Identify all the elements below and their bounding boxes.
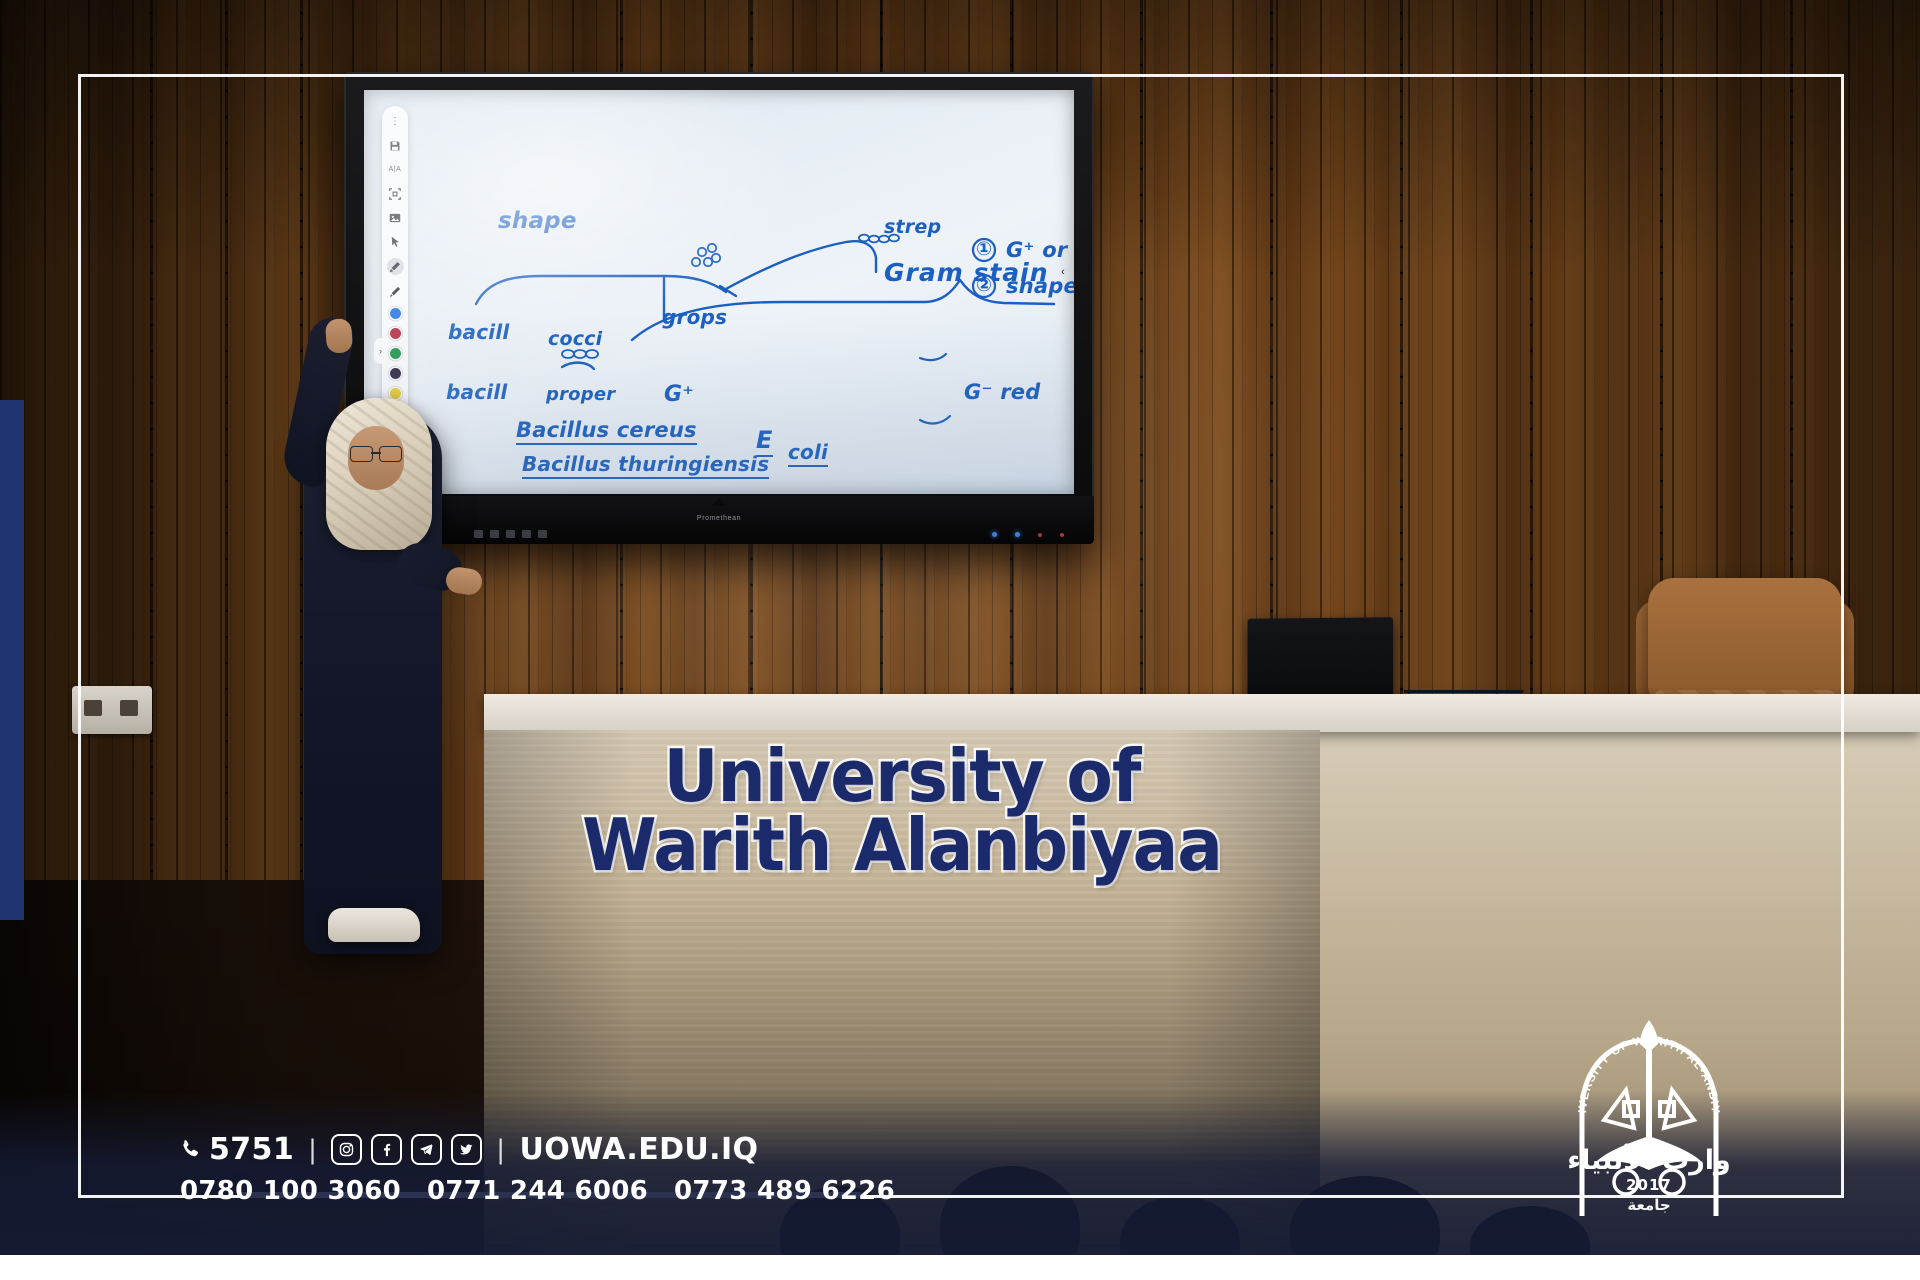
- ink-g-minus-red: G⁻ red: [964, 380, 1040, 404]
- logo-arabic-name: وارث الأنبياء: [1556, 1145, 1742, 1176]
- hotline-number: 5751: [209, 1132, 294, 1167]
- ink-shape: shape: [498, 208, 577, 234]
- bottom-white-strip: [0, 1255, 1920, 1280]
- ink-bacillus-thuringiensis: Bacillus thuringiensis: [522, 452, 769, 479]
- footer-separator-1: |: [308, 1135, 317, 1165]
- ink-cocci: cocci: [548, 328, 602, 350]
- phone-number-1[interactable]: 0780 100 3060: [180, 1176, 401, 1206]
- insert-image-icon[interactable]: [388, 210, 403, 225]
- desk-surface: [484, 694, 1920, 732]
- phone-number-2[interactable]: 0771 244 6006: [427, 1176, 648, 1206]
- sensor-notch: [712, 498, 726, 506]
- logo-arabic-sub: جامعة: [1556, 1196, 1742, 1214]
- university-logo: UNIVERSITY OF WARITH AL-ANBIYAA وارث الأ…: [1556, 1016, 1742, 1224]
- display-brand-label: Promethean: [697, 515, 741, 522]
- cursor-icon[interactable]: [388, 234, 403, 249]
- footer-separator-2: |: [496, 1135, 505, 1165]
- contact-footer: 5751 | | UOWA.EDU.IQ 0780 100: [180, 1132, 1380, 1206]
- ink-strep: strep: [884, 216, 941, 238]
- power-socket: [72, 686, 152, 734]
- ink-list-1-number: ①: [976, 238, 992, 260]
- website-link[interactable]: UOWA.EDU.IQ: [519, 1132, 758, 1167]
- select-area-icon[interactable]: [388, 186, 403, 201]
- brand-accent-bar: [0, 400, 24, 920]
- twitter-icon[interactable]: [451, 1134, 482, 1165]
- footer-primary-row: 5751 | | UOWA.EDU.IQ: [180, 1132, 1380, 1167]
- venue-sign: University of Warith Alanbiyaa: [484, 742, 1320, 880]
- presenter: [286, 296, 496, 956]
- instagram-icon[interactable]: [331, 1134, 362, 1165]
- ink-g-plus: G⁺: [664, 382, 694, 407]
- more-options-icon[interactable]: ⋮: [388, 114, 403, 129]
- telegram-icon[interactable]: [411, 1134, 442, 1165]
- pen-icon[interactable]: [387, 258, 404, 275]
- footer-phone-row: 0780 100 3060 0771 244 6006 0773 489 622…: [180, 1176, 1380, 1206]
- photo-card: shape bacill cocci bacill proper grops s…: [0, 0, 1920, 1280]
- ink-bacillus-cereus: Bacillus cereus: [516, 418, 697, 445]
- hotline[interactable]: 5751: [180, 1132, 294, 1167]
- facebook-icon[interactable]: [371, 1134, 402, 1165]
- ink-groups: grops: [662, 305, 727, 329]
- ink-proper: proper: [546, 384, 615, 405]
- presenter-gesturing-hand: [444, 566, 483, 597]
- laptop: [1248, 617, 1393, 701]
- display-indicators: [992, 532, 1064, 537]
- phone-icon: [180, 1139, 202, 1161]
- ink-e-coli-e: E: [756, 426, 773, 457]
- social-links[interactable]: [331, 1134, 482, 1165]
- ink-e-coli-rest: coli: [788, 440, 828, 467]
- save-icon[interactable]: [388, 138, 403, 153]
- presenter-shoe: [328, 908, 420, 942]
- eyeglasses: [350, 446, 402, 460]
- sign-line-2: Warith Alanbiyaa: [509, 811, 1295, 880]
- presenter-pointing-hand: [325, 318, 353, 354]
- phone-number-3[interactable]: 0773 489 6226: [674, 1176, 895, 1206]
- sign-line-1: University of: [509, 742, 1295, 811]
- ink-list-2-number: ②: [976, 274, 992, 296]
- logo-year: 2017: [1556, 1176, 1742, 1194]
- text-format-icon[interactable]: A|A: [388, 162, 403, 177]
- panel-collapse-icon[interactable]: ‹: [1056, 258, 1070, 286]
